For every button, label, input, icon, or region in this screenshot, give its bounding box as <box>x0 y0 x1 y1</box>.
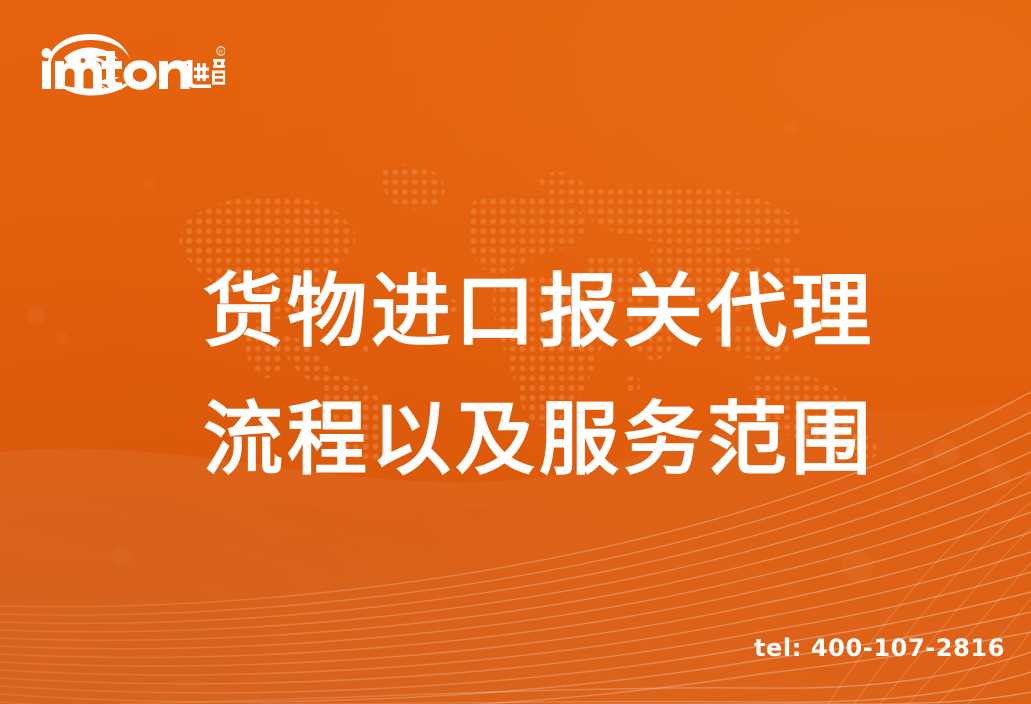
imton-logo[interactable]: R <box>40 32 225 98</box>
registered-mark-icon: R <box>217 47 225 56</box>
svg-text:R: R <box>219 50 223 56</box>
promo-banner: R 货物进口报关代理 流程以及服务范围 tel: 400-107-2816 <box>0 0 1031 704</box>
headline-line-1: 货物进口报关代理 <box>203 248 883 376</box>
contact-phone[interactable]: tel: 400-107-2816 <box>754 634 1005 662</box>
page-title: 货物进口报关代理 流程以及服务范围 <box>203 248 883 504</box>
headline-line-2: 流程以及服务范围 <box>203 376 883 504</box>
